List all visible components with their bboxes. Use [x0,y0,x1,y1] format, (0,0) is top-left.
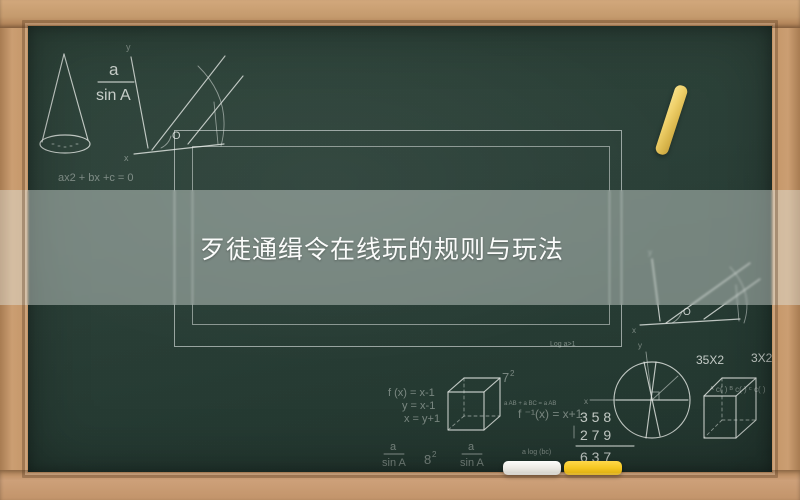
frame-inner-bevel [22,20,778,478]
screenshot-root: a sin A y x O ax [0,0,800,500]
